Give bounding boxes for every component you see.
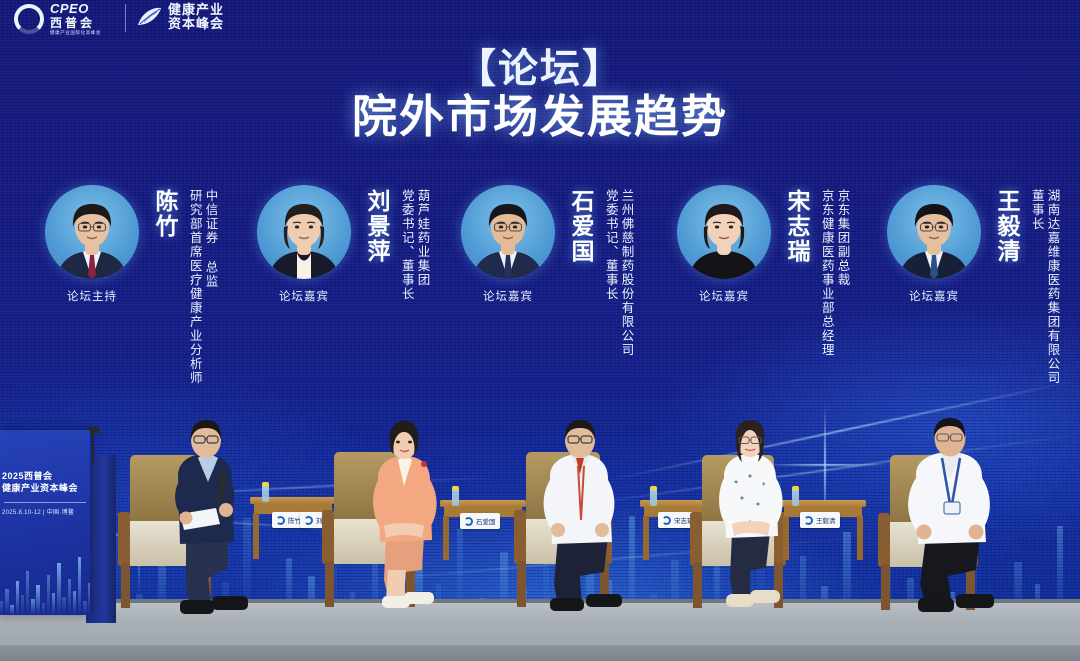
speaker-name: 石爱国 [564, 189, 598, 264]
rollup-chart-bar [5, 589, 8, 615]
chair-arm [322, 510, 334, 565]
rollup-chart-bar [36, 585, 39, 615]
plate-logo-icon [804, 516, 813, 525]
cpeo-logo-cn: 西普会 [50, 17, 101, 29]
rollup-chart-bar [88, 583, 90, 615]
speaker-titles: 葫芦娃药业集团党委书记、董事长 [397, 189, 429, 301]
table-leg [857, 516, 863, 560]
podium [86, 455, 116, 623]
rollup-chart-bar [10, 605, 13, 615]
rollup-title-line1: 2025西普会 [2, 470, 90, 482]
portrait-song-zhirui [677, 185, 771, 279]
forum-title-block: 【论坛】 院外市场发展趋势 [0, 48, 1080, 142]
summit-logo: 健康产业 资本峰会 [136, 3, 224, 30]
speaker-title-line: 党委书记、董事长 [399, 189, 413, 301]
plate-logo-icon [304, 516, 313, 525]
portrait-liu-jingping [257, 185, 351, 279]
rollup-chart-bar [21, 595, 24, 615]
name-plate-text: 石爱国 [476, 516, 496, 526]
seated-person [890, 418, 1014, 623]
rollup-chart-bar [31, 599, 34, 615]
name-plate: 石爱国 [460, 513, 500, 529]
plate-logo-icon [464, 517, 473, 526]
speaker-title-line: 党委书记、董事长 [603, 189, 617, 357]
rollup-chart-bar [52, 593, 55, 615]
speaker-card: 论坛嘉宾宋志瑞京东集团副总裁京东健康医药事业部总经理 [672, 185, 849, 357]
seated-person [150, 418, 270, 623]
stage-front-panel [0, 645, 1080, 661]
water-bottle [650, 486, 657, 506]
table-leg [643, 516, 649, 560]
rollup-chart-bar [78, 557, 81, 615]
conference-stage-photo: CPEO 西普会 健康产业国际化高峰会 健康产业 资本峰会 【论坛】 院外市场发… [0, 0, 1080, 661]
speaker-title-line: 董事长 [1029, 189, 1043, 385]
chair-arm [878, 513, 890, 568]
speaker-title-line: 兰州佛慈制药股份有限公司 [619, 189, 633, 357]
chair-leg [325, 561, 334, 607]
chair-leg [881, 564, 890, 610]
cpeo-logo-sub: 健康产业国际化高峰会 [50, 31, 101, 36]
rollup-chart-bar [62, 597, 65, 615]
speaker-role: 论坛嘉宾 [279, 288, 329, 304]
speaker-titles: 湖南达嘉维康医药集团有限公司董事长 [1027, 189, 1059, 385]
speaker-role: 论坛主持 [67, 288, 117, 304]
rollup-chart-bar [16, 581, 19, 615]
rollup-title-line2: 健康产业资本峰会 [2, 482, 90, 494]
speaker-title-line: 研究部首席医疗健康产业分析师 [187, 189, 201, 385]
cpeo-logo-en: CPEO [50, 2, 101, 15]
speaker-titles: 京东集团副总裁京东健康医药事业部总经理 [817, 189, 849, 357]
rollup-chart-bar [68, 579, 71, 615]
chair-arm [118, 512, 130, 566]
chair-leg [121, 563, 130, 608]
speaker-card: 论坛嘉宾石爱国兰州佛慈制药股份有限公司党委书记、董事长 [456, 185, 633, 357]
portrait-shi-aiguo [461, 185, 555, 279]
header-logo-bar: CPEO 西普会 健康产业国际化高峰会 健康产业 资本峰会 [0, 0, 1080, 42]
plate-logo-icon [662, 516, 671, 525]
name-plate-text: 王毅清 [816, 515, 836, 525]
portrait-chen-zhu [45, 185, 139, 279]
seated-person [700, 420, 804, 620]
rollup-banner: 2025西普会 健康产业资本峰会 2025.8.10-12 | 中国·博鳌 [0, 430, 90, 615]
speaker-name: 宋志瑞 [780, 189, 814, 264]
speaker-role: 论坛嘉宾 [909, 288, 959, 304]
seated-person [352, 420, 462, 620]
speaker-role: 论坛嘉宾 [699, 288, 749, 304]
leaf-icon [136, 6, 162, 28]
speaker-name: 王毅清 [990, 189, 1024, 264]
speaker-title-line: 京东集团副总裁 [835, 189, 849, 357]
rollup-chart-bar [83, 601, 86, 615]
speaker-name: 陈竹 [148, 189, 182, 239]
rollup-date: 2025.8.10-12 | 中国·博鳌 [2, 507, 90, 516]
seated-person [524, 420, 642, 620]
rollup-chart-bar [57, 563, 60, 615]
cpeo-logo: CPEO 西普会 健康产业国际化高峰会 [14, 2, 101, 36]
speaker-titles: 中信证券 总监研究部首席医疗健康产业分析师 [185, 189, 217, 385]
summit-logo-line2: 资本峰会 [168, 17, 224, 31]
summit-logo-line1: 健康产业 [168, 3, 224, 17]
rollup-chart-bar [47, 575, 50, 615]
speaker-name: 刘景萍 [360, 189, 394, 264]
speaker-role: 论坛嘉宾 [483, 288, 533, 304]
name-plate: 王毅清 [800, 512, 840, 528]
microphone-stand [92, 432, 94, 462]
rollup-divider [4, 502, 86, 503]
speaker-card: 论坛嘉宾王毅清湖南达嘉维康医药集团有限公司董事长 [882, 185, 1059, 385]
speaker-title-line: 中信证券 总监 [203, 189, 217, 385]
speaker-card: 论坛主持陈竹中信证券 总监研究部首席医疗健康产业分析师 [40, 185, 217, 385]
portrait-wang-yiqing [887, 185, 981, 279]
plate-logo-icon [276, 516, 285, 525]
ring-logo-icon [14, 4, 44, 34]
speaker-panel-strip: 论坛主持陈竹中信证券 总监研究部首席医疗健康产业分析师 [0, 185, 1080, 435]
speaker-card: 论坛嘉宾刘景萍葫芦娃药业集团党委书记、董事长 [252, 185, 429, 304]
forum-title-main: 院外市场发展趋势 [0, 92, 1080, 142]
rollup-chart-bar [26, 571, 29, 615]
logo-divider [125, 4, 126, 32]
forum-title-bracket: 【论坛】 [0, 48, 1080, 90]
rollup-chart-bar [0, 601, 3, 615]
rollup-chart-bar [73, 591, 76, 615]
speaker-title-line: 京东健康医药事业部总经理 [819, 189, 833, 357]
rollup-chart-bar [42, 603, 45, 615]
speaker-title-line: 葫芦娃药业集团 [415, 189, 429, 301]
speaker-title-line: 湖南达嘉维康医药集团有限公司 [1045, 189, 1059, 385]
speaker-titles: 兰州佛慈制药股份有限公司党委书记、董事长 [601, 189, 633, 357]
